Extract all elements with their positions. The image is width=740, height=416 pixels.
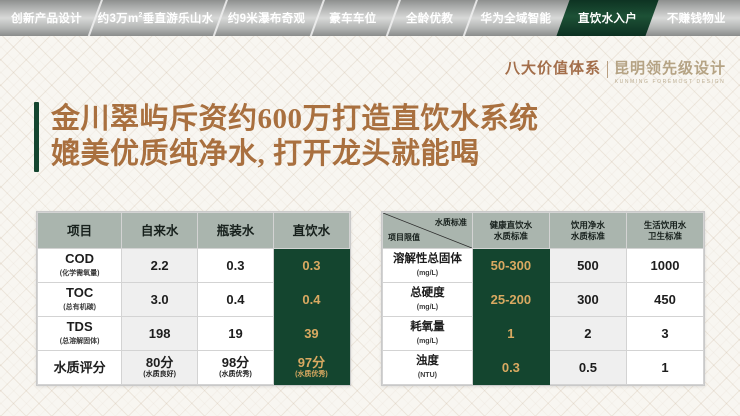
cell-tap: 2.2 (122, 249, 198, 283)
row-label-cod: COD (化学需氧量) (38, 249, 122, 283)
cell-domestic: 1000 (626, 249, 703, 283)
corner-label-limit: 项目限值 (388, 231, 420, 245)
row-label-text: TOC (38, 286, 121, 300)
row-label-hardness: 总硬度 (mg/L) (383, 283, 473, 317)
row-label-turbidity: 浊度 (NTU) (383, 351, 473, 385)
th-line-1: 健康直饮水 (490, 220, 533, 230)
th-healthy-direct-drinking: 健康直饮水 水质标准 (472, 213, 549, 249)
cell-value: 98分 (198, 356, 273, 370)
nav-item-label: 直饮水入户 (579, 10, 638, 26)
cell-direct: 0.3 (273, 249, 349, 283)
brand-sub-block: 昆明领先级设计 KUNMING FOREMOST DESIGN (614, 60, 726, 85)
row-label-unit: (mg/L) (383, 267, 472, 280)
nav-item-3[interactable]: 约9米瀑布奇观 (218, 0, 315, 36)
th-line-2: 水质标准 (571, 231, 605, 241)
th-line-2: 水质标准 (494, 231, 528, 241)
table-row: TDS (总溶解固体) 198 19 39 (38, 317, 350, 351)
cell-purified: 0.5 (549, 351, 626, 385)
nav-item-4[interactable]: 豪车车位 (315, 0, 391, 36)
table-head: 水质标准 项目限值 健康直饮水 水质标准 饮用净水 水质标准 生活饮用水 卫生标… (383, 213, 704, 249)
cell-healthy: 50-300 (472, 249, 549, 283)
nav-item-2[interactable]: 约3万m2垂直游乐山水 (93, 0, 218, 36)
cell-direct: 0.4 (273, 283, 349, 317)
table-row: 溶解性总固体 (mg/L) 50-300 500 1000 (383, 249, 704, 283)
row-label-text: 水质评分 (38, 361, 121, 375)
headline-accent-bar (34, 102, 39, 172)
table-row: 水质评分 80分 (水质良好) 98分 (水质优秀) 97分 (水质优秀) (38, 351, 350, 385)
standards-table: 水质标准 项目限值 健康直饮水 水质标准 饮用净水 水质标准 生活饮用水 卫生标… (382, 212, 704, 385)
th-bottled-water: 瓶装水 (198, 213, 274, 249)
th-purified-drinking: 饮用净水 水质标准 (549, 213, 626, 249)
cell-purified: 2 (549, 317, 626, 351)
brand-divider (607, 61, 608, 78)
cell-domestic: 1 (626, 351, 703, 385)
corner-label-standard: 水质标准 (435, 216, 467, 230)
water-quality-comparison-table: 项目 自来水 瓶装水 直饮水 COD (化学需氧量) 2.2 0.3 0.3 (36, 211, 351, 386)
headline-line-2: 媲美优质纯净水, 打开龙头就能喝 (51, 137, 539, 172)
cell-direct: 97分 (水质优秀) (273, 351, 349, 385)
th-line-2: 卫生标准 (648, 231, 682, 241)
cell-note: (水质优秀) (274, 370, 349, 379)
comparison-table: 项目 自来水 瓶装水 直饮水 COD (化学需氧量) 2.2 0.3 0.3 (37, 212, 350, 385)
brand-sub-title: 昆明领先级设计 (614, 60, 726, 78)
table-row: TOC (总有机碳) 3.0 0.4 0.4 (38, 283, 350, 317)
th-tap-water: 自来水 (122, 213, 198, 249)
nav-item-label: 约3万m2垂直游乐山水 (98, 10, 214, 26)
brand-main-title: 八大价值体系 (505, 60, 601, 78)
row-label-unit: (mg/L) (383, 335, 472, 348)
row-label-score: 水质评分 (38, 351, 122, 385)
table-row: 浊度 (NTU) 0.3 0.5 1 (383, 351, 704, 385)
cell-domestic: 3 (626, 317, 703, 351)
cell-domestic: 450 (626, 283, 703, 317)
nav-item-label: 创新产品设计 (11, 10, 82, 26)
row-label-tds-total: 溶解性总固体 (mg/L) (383, 249, 473, 283)
water-standards-table: 水质标准 项目限值 健康直饮水 水质标准 饮用净水 水质标准 生活饮用水 卫生标… (381, 211, 705, 386)
row-label-text: 溶解性总固体 (383, 252, 472, 266)
th-domestic-drinking: 生活饮用水 卫生标准 (626, 213, 703, 249)
th-item: 项目 (38, 213, 122, 249)
row-label-sub: (总有机碳) (38, 301, 121, 314)
nav-item-6[interactable]: 华为全域智能 (468, 0, 563, 36)
row-label-unit: (mg/L) (383, 301, 472, 314)
headline-line-1: 金川翠屿斥资约600万打造直饮水系统 (51, 102, 539, 137)
row-label-sub: (化学需氧量) (38, 267, 121, 280)
row-label-text: TDS (38, 320, 121, 334)
brand-sub-english: KUNMING FOREMOST DESIGN (614, 79, 726, 85)
table-head: 项目 自来水 瓶装水 直饮水 (38, 213, 350, 249)
row-label-unit: (NTU) (383, 369, 472, 382)
row-label-tds: TDS (总溶解固体) (38, 317, 122, 351)
table-body: 溶解性总固体 (mg/L) 50-300 500 1000 总硬度 (mg/L)… (383, 249, 704, 385)
table-row: 耗氧量 (mg/L) 1 2 3 (383, 317, 704, 351)
cell-tap: 198 (122, 317, 198, 351)
cell-value: 97分 (274, 356, 349, 370)
cell-bottled: 0.4 (198, 283, 274, 317)
headline-block: 金川翠屿斥资约600万打造直饮水系统 媲美优质纯净水, 打开龙头就能喝 (34, 102, 539, 172)
nav-item-label: 不赚钱物业 (667, 10, 726, 26)
th-line-1: 饮用净水 (571, 220, 605, 230)
th-line-1: 生活饮用水 (644, 220, 687, 230)
cell-note: (水质优秀) (198, 370, 273, 379)
table-header-row: 项目 自来水 瓶装水 直饮水 (38, 213, 350, 249)
nav-item-5[interactable]: 全龄优教 (391, 0, 469, 36)
cell-value: 80分 (122, 356, 197, 370)
branding-block: 八大价值体系 昆明领先级设计 KUNMING FOREMOST DESIGN (505, 60, 726, 85)
page-title: 金川翠屿斥资约600万打造直饮水系统 媲美优质纯净水, 打开龙头就能喝 (51, 102, 539, 172)
th-direct-drinking-water: 直饮水 (273, 213, 349, 249)
nav-item-active-direct-drinking-water[interactable]: 直饮水入户 (557, 0, 659, 36)
nav-item-label: 豪车车位 (329, 10, 376, 26)
cell-bottled: 19 (198, 317, 274, 351)
cell-healthy: 25-200 (472, 283, 549, 317)
table-body: COD (化学需氧量) 2.2 0.3 0.3 TOC (总有机碳) 3.0 0… (38, 249, 350, 385)
cell-direct: 39 (273, 317, 349, 351)
th-diagonal-corner: 水质标准 项目限值 (383, 213, 473, 249)
table-row: 总硬度 (mg/L) 25-200 300 450 (383, 283, 704, 317)
table-row: COD (化学需氧量) 2.2 0.3 0.3 (38, 249, 350, 283)
cell-purified: 500 (549, 249, 626, 283)
row-label-text: 耗氧量 (383, 320, 472, 334)
row-label-toc: TOC (总有机碳) (38, 283, 122, 317)
cell-purified: 300 (549, 283, 626, 317)
cell-bottled: 98分 (水质优秀) (198, 351, 274, 385)
slide-root: 创新产品设计 约3万m2垂直游乐山水 约9米瀑布奇观 豪车车位 全龄优教 华为全… (0, 0, 740, 416)
cell-healthy: 1 (472, 317, 549, 351)
nav-item-label: 全龄优教 (406, 10, 453, 26)
table-header-row: 水质标准 项目限值 健康直饮水 水质标准 饮用净水 水质标准 生活饮用水 卫生标… (383, 213, 704, 249)
row-label-oxygen-consumption: 耗氧量 (mg/L) (383, 317, 473, 351)
nav-item-label: 华为全域智能 (481, 10, 552, 26)
row-label-text: 浊度 (383, 354, 472, 368)
row-label-text: COD (38, 252, 121, 266)
cell-tap: 80分 (水质良好) (122, 351, 198, 385)
top-navigation: 创新产品设计 约3万m2垂直游乐山水 约9米瀑布奇观 豪车车位 全龄优教 华为全… (0, 0, 740, 36)
nav-item-1[interactable]: 创新产品设计 (0, 0, 93, 36)
nav-item-label: 约9米瀑布奇观 (228, 10, 306, 26)
cell-bottled: 0.3 (198, 249, 274, 283)
row-label-sub: (总溶解固体) (38, 335, 121, 348)
cell-note: (水质良好) (122, 370, 197, 379)
cell-tap: 3.0 (122, 283, 198, 317)
row-label-text: 总硬度 (383, 286, 472, 300)
nav-item-8[interactable]: 不赚钱物业 (653, 0, 740, 36)
cell-healthy: 0.3 (472, 351, 549, 385)
